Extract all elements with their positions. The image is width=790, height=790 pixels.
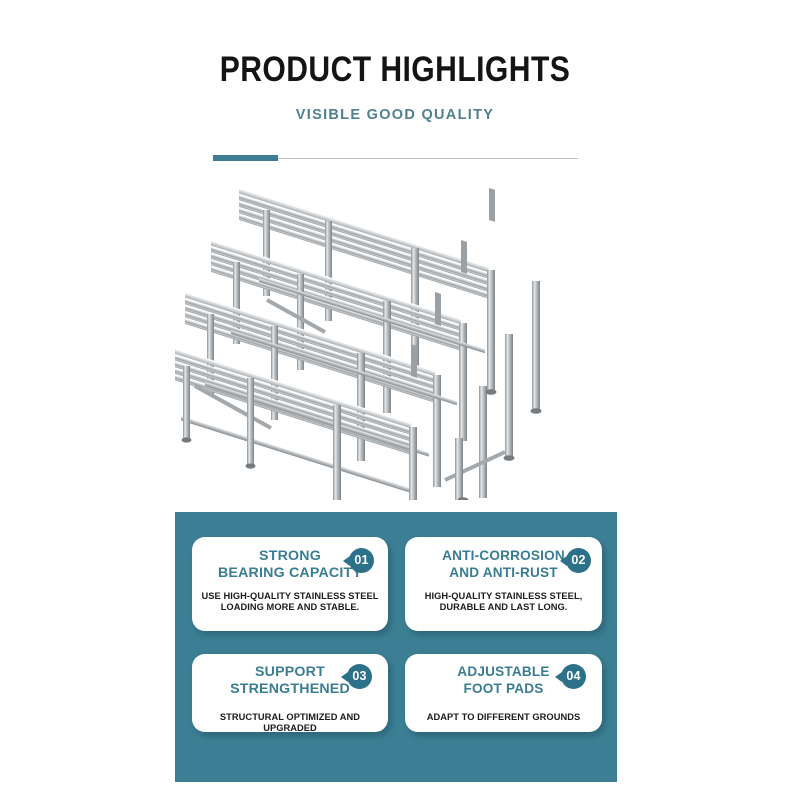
divider-accent <box>213 155 278 161</box>
feature-card-04-body: ADAPT TO DIFFERENT GROUNDS <box>405 712 602 724</box>
feature-card-03-title: SUPPORT STRENGTHENED <box>230 664 350 697</box>
feature-card-04-head: ADJUSTABLE FOOT PADS 04 <box>405 654 602 698</box>
feature-panel: STRONG BEARING CAPACITY 01 USE HIGH-QUAL… <box>175 512 617 782</box>
feature-card-02-title: ANTI-CORROSION AND ANTI-RUST <box>442 548 565 581</box>
feature-card-01-body: USE HIGH-QUALITY STAINLESS STEEL LOADING… <box>192 591 388 614</box>
page-subtitle: VISIBLE GOOD QUALITY <box>0 105 790 125</box>
feature-card-grid: STRONG BEARING CAPACITY 01 USE HIGH-QUAL… <box>192 537 602 762</box>
feature-card-02-head: ANTI-CORROSION AND ANTI-RUST 02 <box>405 537 602 582</box>
shelf-tier-3-endcap <box>461 240 467 274</box>
feature-card-03[interactable]: SUPPORT STRENGTHENED 03 STRUCTURAL OPTIM… <box>192 654 388 732</box>
feature-card-02[interactable]: ANTI-CORROSION AND ANTI-RUST 02 HIGH-QUA… <box>405 537 602 631</box>
feature-card-01-number-badge: 01 <box>349 548 374 573</box>
feature-card-04-title: ADJUSTABLE FOOT PADS <box>457 664 549 697</box>
feature-card-01-head: STRONG BEARING CAPACITY 01 <box>192 537 388 582</box>
feature-card-01[interactable]: STRONG BEARING CAPACITY 01 USE HIGH-QUAL… <box>192 537 388 631</box>
feature-card-02-number-badge: 02 <box>566 548 591 573</box>
page-title: PRODUCT HIGHLIGHTS <box>55 50 734 90</box>
plant-stand-illustration <box>175 180 615 500</box>
page-header: PRODUCT HIGHLIGHTS VISIBLE GOOD QUALITY <box>0 0 790 178</box>
feature-card-03-body: STRUCTURAL OPTIMIZED AND UPGRADED <box>192 712 388 735</box>
feature-card-03-number-badge: 03 <box>347 664 372 689</box>
header-divider <box>213 155 578 161</box>
feature-card-04-number-badge: 04 <box>561 664 586 689</box>
shelf-tier-4-endcap <box>489 188 495 222</box>
feature-card-02-body: HIGH-QUALITY STAINLESS STEEL, DURABLE AN… <box>405 591 602 614</box>
feature-card-03-head: SUPPORT STRENGTHENED 03 <box>192 654 388 698</box>
shelf-tier-1-endcap <box>411 344 417 378</box>
feature-card-01-title: STRONG BEARING CAPACITY <box>218 548 362 581</box>
feature-card-04[interactable]: ADJUSTABLE FOOT PADS 04 ADAPT TO DIFFERE… <box>405 654 602 732</box>
shelf-tier-2-endcap <box>435 292 441 326</box>
product-image <box>175 180 615 500</box>
